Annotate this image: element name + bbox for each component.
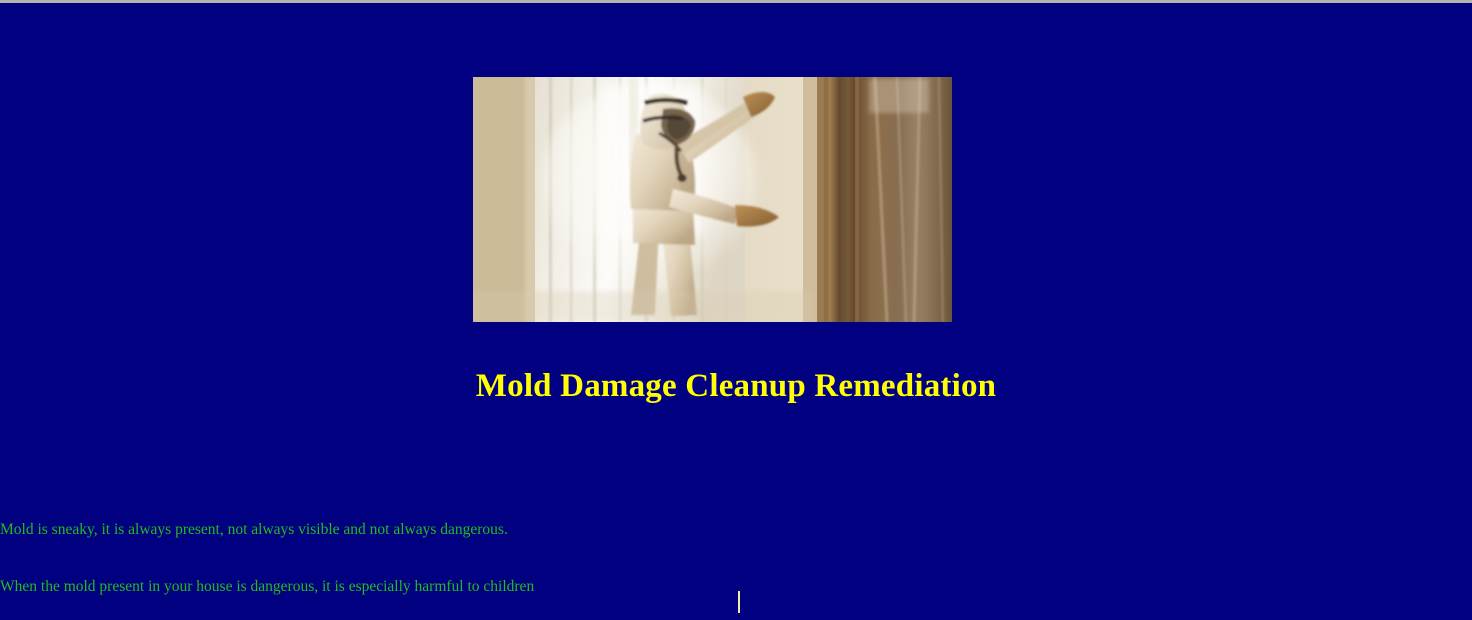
body-copy: Mold is sneaky, it is always present, no…: [0, 481, 760, 620]
body-copy-line: Mold is sneaky, it is always present, no…: [0, 520, 760, 539]
text-caret: [738, 591, 740, 613]
page-root: Mold Damage Cleanup Remediation Mold is …: [0, 0, 1472, 620]
page-title: Mold Damage Cleanup Remediation: [0, 366, 1472, 406]
body-copy-line: When the mold present in your house is d…: [0, 577, 760, 596]
hero-photo-artwork: [473, 77, 952, 322]
window-chrome-edge: [0, 0, 1472, 3]
mold-remediation-worker-photo: [473, 77, 952, 322]
